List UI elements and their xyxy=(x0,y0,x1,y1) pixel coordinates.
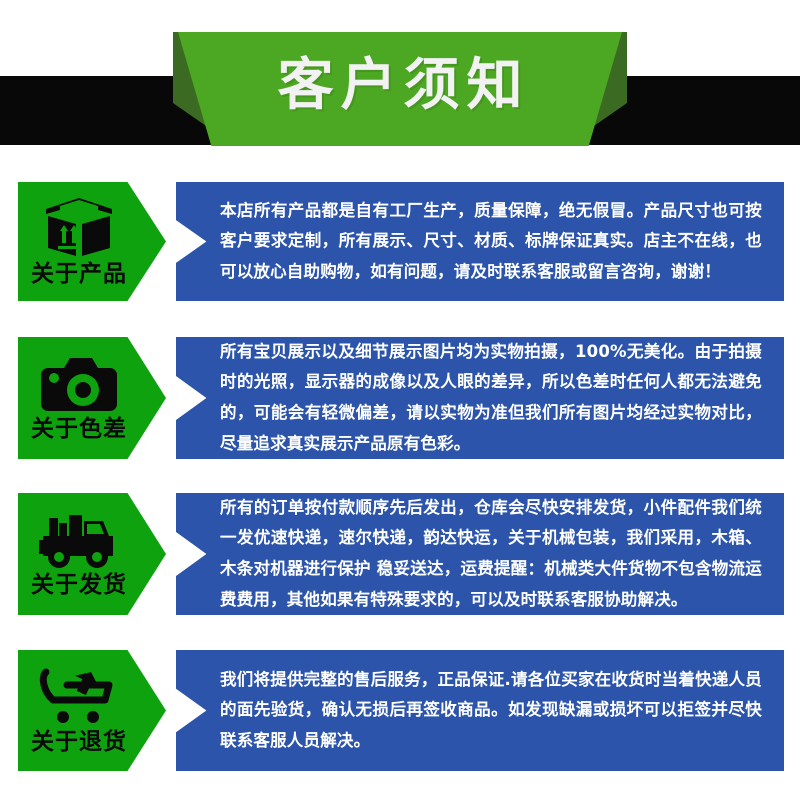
section-label-text: 关于退货 xyxy=(31,731,127,754)
section-body-text: 我们将提供完整的售后服务，正品保证.请各位买家在收货时当着快递人员的面先验货，确… xyxy=(176,665,784,757)
section-label-text: 关于产品 xyxy=(31,263,127,286)
section-label-tile-shipping[interactable]: 关于发货 xyxy=(18,493,166,615)
notice-row-product: 关于产品 本店所有产品都是自有工厂生产，质量保障，绝无假冒。产品尺寸也可按客户要… xyxy=(0,182,800,301)
section-label-text: 关于色差 xyxy=(31,418,127,441)
section-label-tile-return[interactable]: 关于退货 xyxy=(18,650,166,771)
forklift-truck-icon xyxy=(37,512,121,570)
section-body-text: 本店所有产品都是自有工厂生产，质量保障，绝无假冒。产品尺寸也可按客户要求定制，所… xyxy=(176,196,784,288)
package-box-icon xyxy=(42,197,116,259)
section-text-panel-color: 所有宝贝展示以及细节展示图片均为实物拍摄，100%无美化。由于拍摄时的光照，显示… xyxy=(176,337,784,459)
section-label-tile-color[interactable]: 关于色差 xyxy=(18,337,166,459)
page-header-banner: 客户须知 xyxy=(0,0,800,166)
section-body-text: 所有的订单按付款顺序先后发出，仓库会尽快安排发货，小件配件我们统一发优速快递，速… xyxy=(176,493,784,615)
section-label-tile-product[interactable]: 关于产品 xyxy=(18,182,166,301)
page-title: 客户须知 xyxy=(271,58,530,120)
notice-row-return: 关于退货 我们将提供完整的售后服务，正品保证.请各位买家在收货时当着快递人员的面… xyxy=(0,650,800,771)
section-label-text: 关于发货 xyxy=(31,574,127,597)
notice-row-color: 关于色差 所有宝贝展示以及细节展示图片均为实物拍摄，100%无美化。由于拍摄时的… xyxy=(0,337,800,459)
notice-sections: 关于产品 本店所有产品都是自有工厂生产，质量保障，绝无假冒。产品尺寸也可按客户要… xyxy=(0,166,800,800)
banner-ribbon: 客户须知 xyxy=(178,32,622,146)
camera-icon xyxy=(40,356,118,414)
section-text-panel-shipping: 所有的订单按付款顺序先后发出，仓库会尽快安排发货，小件配件我们统一发优速快递，速… xyxy=(176,493,784,615)
notice-row-shipping: 关于发货 所有的订单按付款顺序先后发出，仓库会尽快安排发货，小件配件我们统一发优… xyxy=(0,493,800,615)
section-text-panel-return: 我们将提供完整的售后服务，正品保证.请各位买家在收货时当着快递人员的面先验货，确… xyxy=(176,650,784,771)
section-text-panel-product: 本店所有产品都是自有工厂生产，质量保障，绝无假冒。产品尺寸也可按客户要求定制，所… xyxy=(176,182,784,301)
section-body-text: 所有宝贝展示以及细节展示图片均为实物拍摄，100%无美化。由于拍摄时的光照，显示… xyxy=(176,337,784,459)
return-cart-icon xyxy=(39,667,119,727)
